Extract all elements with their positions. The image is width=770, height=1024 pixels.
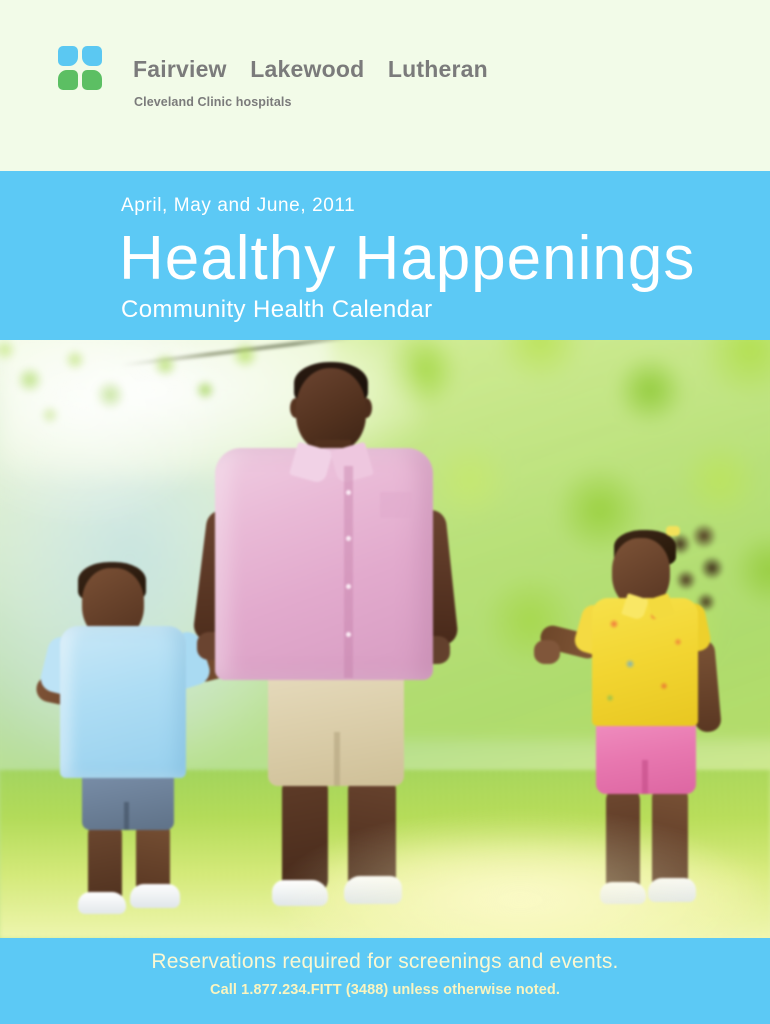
four-squares-logo-icon	[58, 46, 102, 90]
man-shoe-right	[344, 876, 402, 904]
title-band: April, May and June, 2011 Healthy Happen…	[0, 171, 770, 340]
man-shorts-seam	[334, 732, 340, 786]
man-shoe-left	[272, 880, 328, 906]
boy-shorts-seam	[124, 802, 129, 830]
boy-shirt	[60, 626, 186, 778]
girl-hair-tie	[666, 526, 680, 536]
brand-name-lutheran: Lutheran	[388, 56, 488, 82]
logo-square-bottom-left	[58, 70, 78, 90]
girl-shirt	[592, 598, 698, 726]
brand-subtitle: Cleveland Clinic hospitals	[134, 95, 292, 109]
calendar-cover-page: Fairview Lakewood Lutheran Cleveland Cli…	[0, 0, 770, 1024]
page-subtitle: Community Health Calendar	[121, 296, 432, 324]
boy-shoe-right	[130, 884, 180, 908]
girl-shoe-left	[600, 882, 646, 904]
man-leg-left	[282, 776, 328, 894]
page-title: Healthy Happenings	[119, 223, 695, 295]
girl-shoe-right	[648, 878, 696, 902]
man-shirt-pocket	[380, 492, 412, 518]
issue-date-range: April, May and June, 2011	[121, 195, 355, 217]
man-shirt	[215, 448, 433, 680]
man-shirt-button	[346, 632, 351, 637]
brand-hospital-names: Fairview Lakewood Lutheran	[133, 56, 488, 83]
page-header: Fairview Lakewood Lutheran Cleveland Cli…	[0, 0, 770, 171]
brand-name-fairview: Fairview	[133, 56, 227, 82]
man-shirt-button	[346, 584, 351, 589]
girl-shorts-seam	[642, 760, 648, 794]
girl-hand-left	[534, 640, 560, 664]
man-shirt-button	[346, 490, 351, 495]
logo-square-top-right	[82, 46, 102, 66]
boy-shoe-left	[78, 892, 126, 914]
man-shirt-placket	[344, 466, 353, 678]
logo-square-top-left	[58, 46, 78, 66]
footer-phone-note: Call 1.877.234.FITT (3488) unless otherw…	[0, 982, 770, 998]
brand-name-lakewood: Lakewood	[250, 56, 364, 82]
man-shirt-button	[346, 536, 351, 541]
logo-square-bottom-right	[82, 70, 102, 90]
cover-photograph	[0, 340, 770, 938]
page-footer: Reservations required for screenings and…	[0, 938, 770, 1024]
footer-reservations-note: Reservations required for screenings and…	[0, 950, 770, 974]
